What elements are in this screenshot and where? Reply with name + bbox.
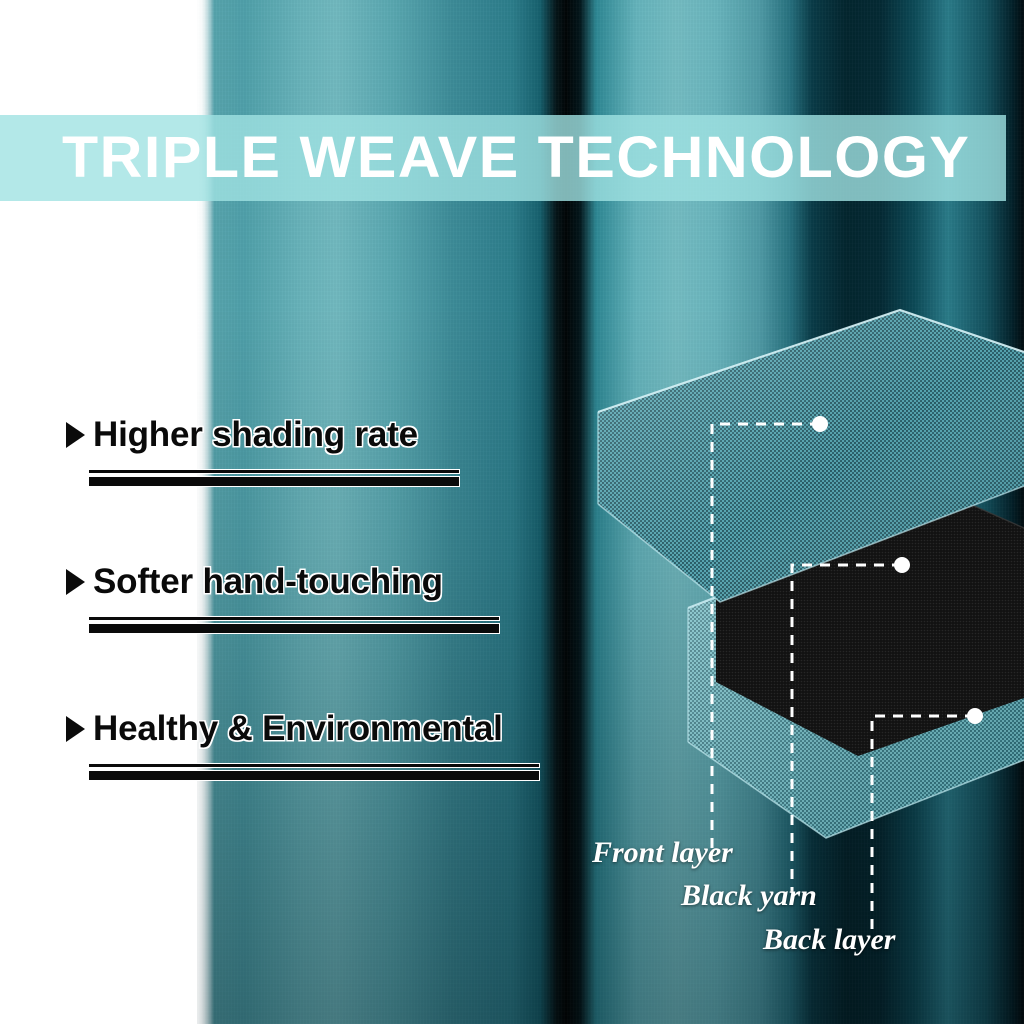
title-banner: TRIPLE WEAVE TECHNOLOGY [0,115,1006,201]
feature-item-softer-hand-touching: Softer hand-touching [66,559,626,634]
feature-underline [88,763,540,781]
underline-thick-rule [88,623,500,634]
triangle-right-icon [66,716,85,742]
feature-item-higher-shading-rate: Higher shading rate [66,412,626,487]
underline-thick-rule [88,476,460,487]
underline-thick-rule [88,770,540,781]
underline-thin-rule [88,616,500,621]
feature-item-healthy-environmental: Healthy & Environmental [66,706,626,781]
feature-list: Higher shading rate Softer hand-touching… [66,412,626,781]
feature-label: Softer hand-touching [93,562,443,602]
page-title: TRIPLE WEAVE TECHNOLOGY [62,129,970,187]
triangle-right-icon [66,422,85,448]
triangle-right-icon [66,569,85,595]
feature-underline [88,616,500,634]
underline-thin-rule [88,469,460,474]
feature-label: Higher shading rate [93,415,418,455]
feature-label: Healthy & Environmental [93,709,503,749]
product-infographic: TRIPLE WEAVE TECHNOLOGY Higher shading r… [0,0,1024,1024]
underline-thin-rule [88,763,540,768]
feature-underline [88,469,460,487]
